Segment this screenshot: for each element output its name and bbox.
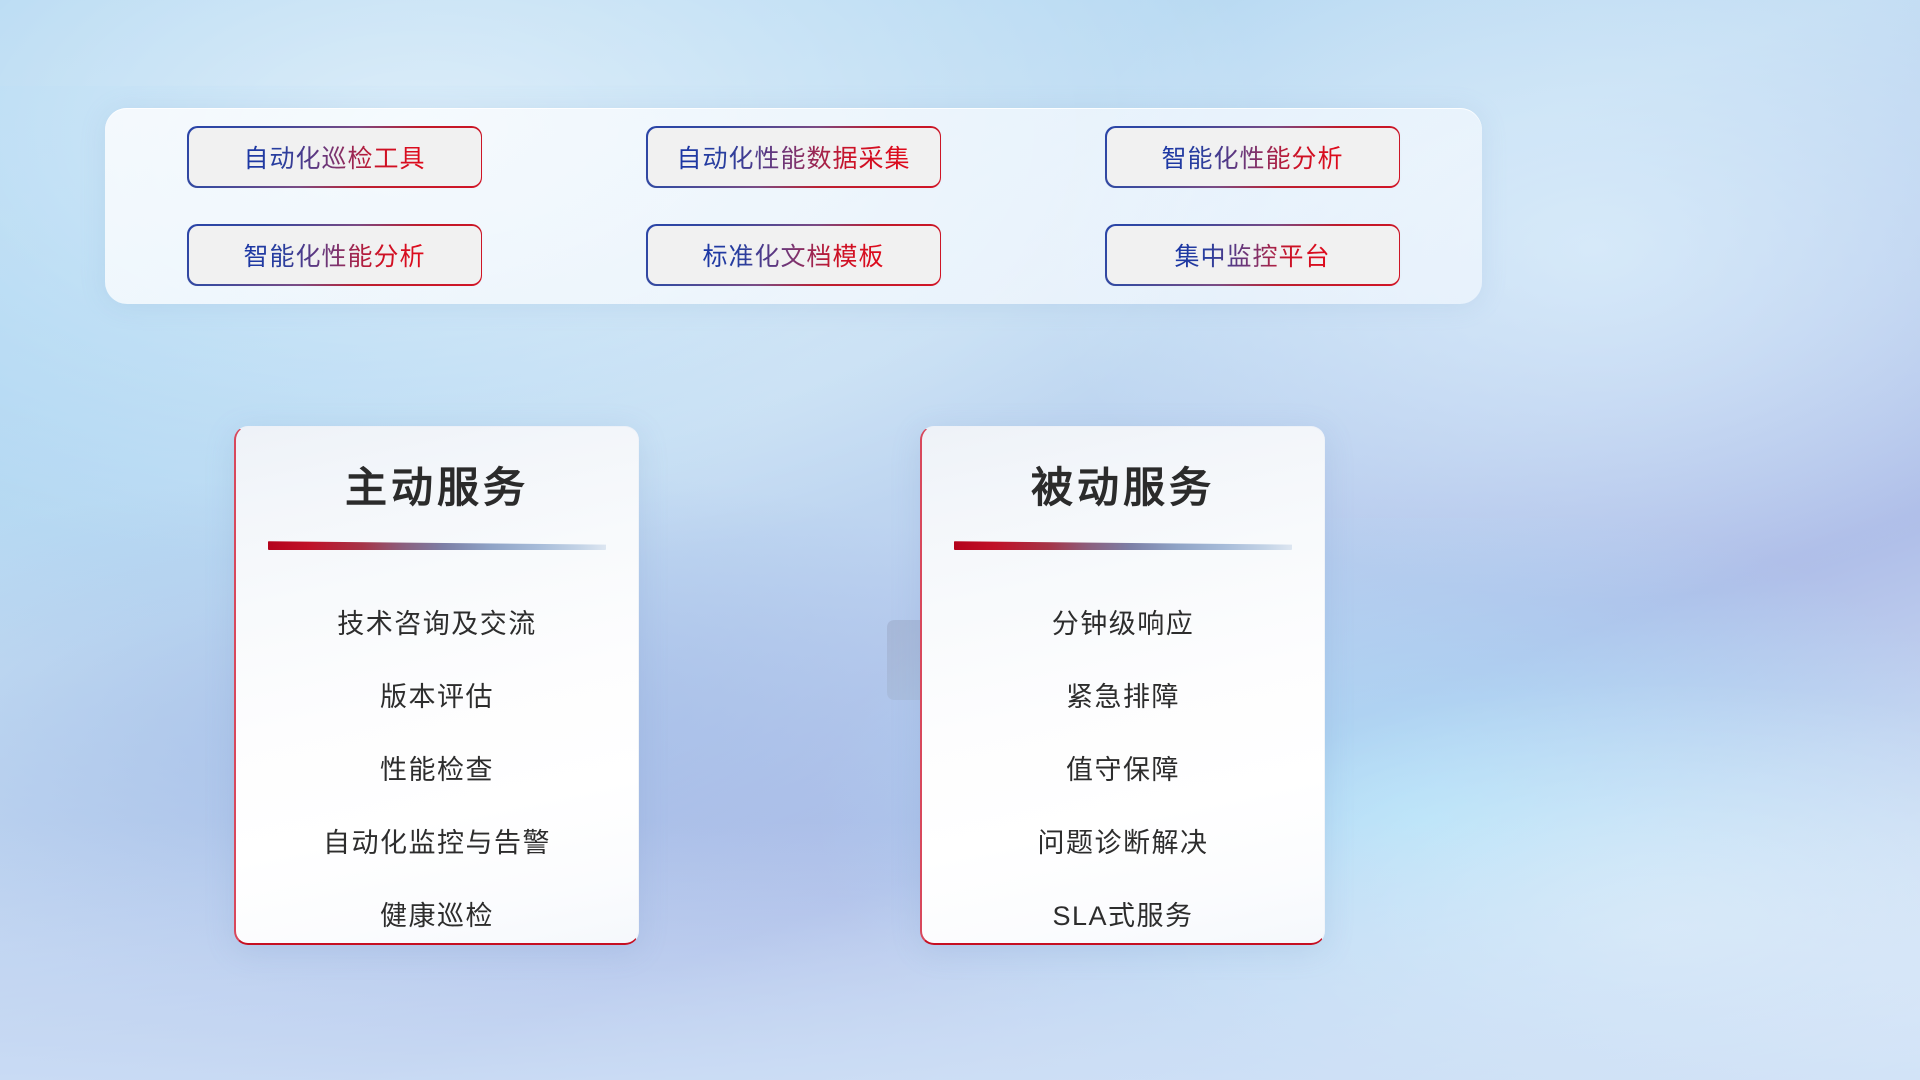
- service-list-item: 技术咨询及交流: [337, 588, 537, 661]
- tag-button-central-monitoring-platform[interactable]: 集中监控平台: [1107, 226, 1399, 284]
- service-card-title: 主动服务: [236, 465, 638, 511]
- tag-button-label: 标准化文档模板: [702, 237, 884, 273]
- title-divider: [954, 541, 1292, 550]
- service-list-item: 分钟级响应: [1052, 588, 1195, 661]
- tag-button-label: 自动化巡检工具: [243, 139, 425, 175]
- tag-button-auto-perf-data-collection[interactable]: 自动化性能数据采集: [648, 128, 940, 186]
- service-card-passive: 被动服务 分钟级响应 紧急排障 值守保障 问题诊断解决 SLA式服务: [920, 426, 1325, 945]
- tag-button-standard-doc-template[interactable]: 标准化文档模板: [648, 226, 940, 284]
- tag-button-label: 集中监控平台: [1174, 237, 1330, 273]
- service-card-active: 主动服务 技术咨询及交流 版本评估 性能检查 自动化监控与告警 健康巡检: [234, 426, 639, 945]
- tag-button-intelligent-perf-analysis-2[interactable]: 智能化性能分析: [189, 226, 481, 284]
- service-list-item: 性能检查: [380, 734, 494, 807]
- service-list-item: 自动化监控与告警: [323, 807, 551, 880]
- tag-button-label: 智能化性能分析: [1161, 139, 1343, 175]
- service-list-item: 健康巡检: [380, 880, 494, 945]
- tag-button-label: 自动化性能数据采集: [676, 139, 910, 175]
- tag-button-auto-inspection-tool[interactable]: 自动化巡检工具: [189, 128, 481, 186]
- service-list-item: SLA式服务: [1052, 880, 1193, 945]
- service-list-item: 版本评估: [380, 661, 494, 734]
- service-list-item: 问题诊断解决: [1038, 807, 1209, 880]
- service-item-list: 分钟级响应 紧急排障 值守保障 问题诊断解决 SLA式服务: [922, 588, 1324, 945]
- service-list-item: 紧急排障: [1066, 661, 1180, 734]
- service-card-title: 被动服务: [922, 465, 1324, 511]
- service-item-list: 技术咨询及交流 版本评估 性能检查 自动化监控与告警 健康巡检: [236, 588, 638, 945]
- tag-button-label: 智能化性能分析: [243, 237, 425, 273]
- capability-tags-panel: 自动化巡检工具 自动化性能数据采集 智能化性能分析 智能化性能分析 标准化文档模…: [105, 108, 1482, 304]
- title-divider: [268, 541, 606, 550]
- tag-button-intelligent-perf-analysis-1[interactable]: 智能化性能分析: [1107, 128, 1399, 186]
- capability-tags-grid: 自动化巡检工具 自动化性能数据采集 智能化性能分析 智能化性能分析 标准化文档模…: [105, 108, 1482, 304]
- service-list-item: 值守保障: [1066, 734, 1180, 807]
